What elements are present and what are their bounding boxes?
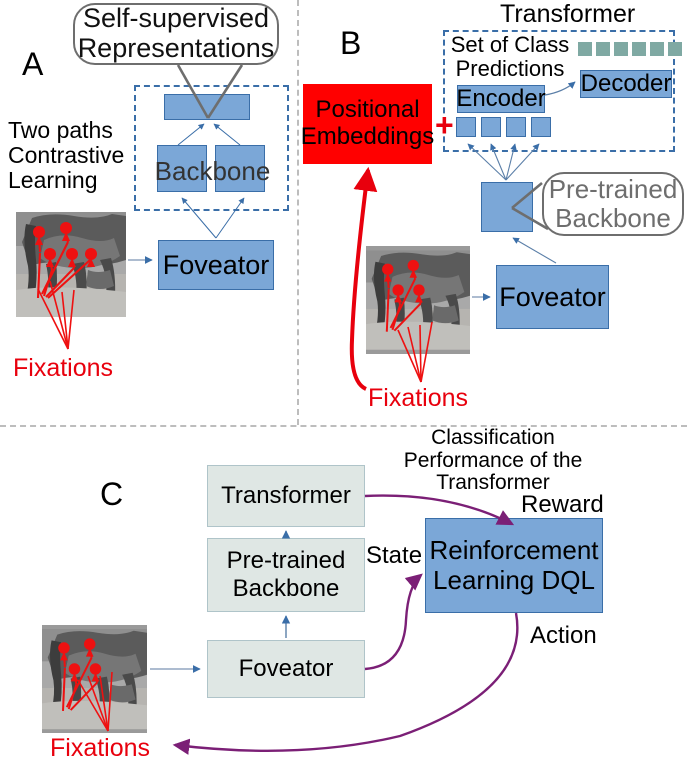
elephant-photo-a-icon xyxy=(16,212,126,317)
class-prediction-chip xyxy=(632,42,646,56)
class-prediction-chip xyxy=(668,42,682,56)
panel-b-fixations-label: Fixations xyxy=(368,385,468,412)
panel-b-stimulus-image xyxy=(366,246,470,354)
panel-c-fixations-label: Fixations xyxy=(50,735,150,762)
action-label: Action xyxy=(530,623,597,649)
state-label: State xyxy=(366,543,422,569)
panel-b-encoder-label: Encoder xyxy=(456,85,545,113)
panel-b-token-box xyxy=(481,117,501,137)
positional-embeddings-label: Positional Embeddings xyxy=(301,97,434,151)
panel-b-letter: B xyxy=(340,26,361,61)
two-paths-contrastive-learning-label: Two paths Contrastive Learning xyxy=(8,118,143,192)
figure-canvas: A Self-supervised Representations Two pa… xyxy=(0,0,687,762)
panel-b-pretrained-backbone-box xyxy=(481,182,533,232)
panel-b-transformer-title: Transformer xyxy=(500,1,635,28)
panel-b-foveator-label: Foveator xyxy=(499,282,606,313)
panel-c-transformer-box: Transformer xyxy=(207,465,365,527)
panel-b-foveator-box: Foveator xyxy=(496,265,609,329)
panel-b-token-box xyxy=(531,117,551,137)
panel-b-decoder-label: Decoder xyxy=(581,70,672,98)
pretrained-backbone-callout-text: Pre-trained Backbone xyxy=(544,175,682,232)
panel-a-foveator-label: Foveator xyxy=(163,250,270,281)
reinforcement-learning-box: Reinforcement Learning DQL xyxy=(425,518,603,613)
pretrained-backbone-callout: Pre-trained Backbone xyxy=(542,172,684,236)
panel-b-token-box xyxy=(456,117,476,137)
reward-label: Reward xyxy=(521,492,604,518)
positional-embeddings-box: Positional Embeddings xyxy=(303,84,432,164)
panel-c-foveator-box: Foveator xyxy=(207,640,365,698)
elephant-photo-b-icon xyxy=(366,246,470,354)
panel-a-backbone-label: Backbone xyxy=(150,157,275,185)
class-prediction-chip xyxy=(578,42,592,56)
panel-c-pretrained-backbone-box: Pre-trained Backbone xyxy=(207,538,365,612)
panel-b-token-box xyxy=(506,117,526,137)
panel-b-encoder-box: Encoder xyxy=(457,85,545,113)
panel-a-letter: A xyxy=(22,47,43,82)
self-supervised-representations-text: Self-supervised Representations xyxy=(75,4,277,63)
panel-c-transformer-label: Transformer xyxy=(221,482,351,510)
panel-b-decoder-box: Decoder xyxy=(580,70,672,98)
classification-performance-label: Classification Performance of the Transf… xyxy=(381,427,605,495)
panel-c-foveator-label: Foveator xyxy=(239,655,334,683)
panel-c-foveator-to-state-arrow xyxy=(365,575,421,669)
panel-a-fixations-label: Fixations xyxy=(13,355,113,382)
panel-separator-vertical xyxy=(297,0,299,425)
panel-c-stimulus-image xyxy=(42,625,147,733)
class-prediction-chip xyxy=(614,42,628,56)
class-prediction-chip xyxy=(650,42,664,56)
self-supervised-representations-callout: Self-supervised Representations xyxy=(73,3,279,65)
panel-c-letter: C xyxy=(100,477,123,512)
reinforcement-learning-label: Reinforcement Learning DQL xyxy=(426,536,602,596)
set-of-class-predictions-label: Set of Class Predictions xyxy=(450,33,570,81)
panel-a-stimulus-image xyxy=(16,212,126,317)
class-prediction-chip xyxy=(596,42,610,56)
plus-icon: + xyxy=(435,108,454,143)
panel-a-foveator-box: Foveator xyxy=(158,240,274,290)
panel-c-pretrained-backbone-label: Pre-trained Backbone xyxy=(208,547,364,602)
panel-a-projection-box xyxy=(164,94,250,120)
panel-b-foveator-to-backbone-arrow xyxy=(513,238,556,263)
elephant-photo-c-icon xyxy=(42,625,147,733)
